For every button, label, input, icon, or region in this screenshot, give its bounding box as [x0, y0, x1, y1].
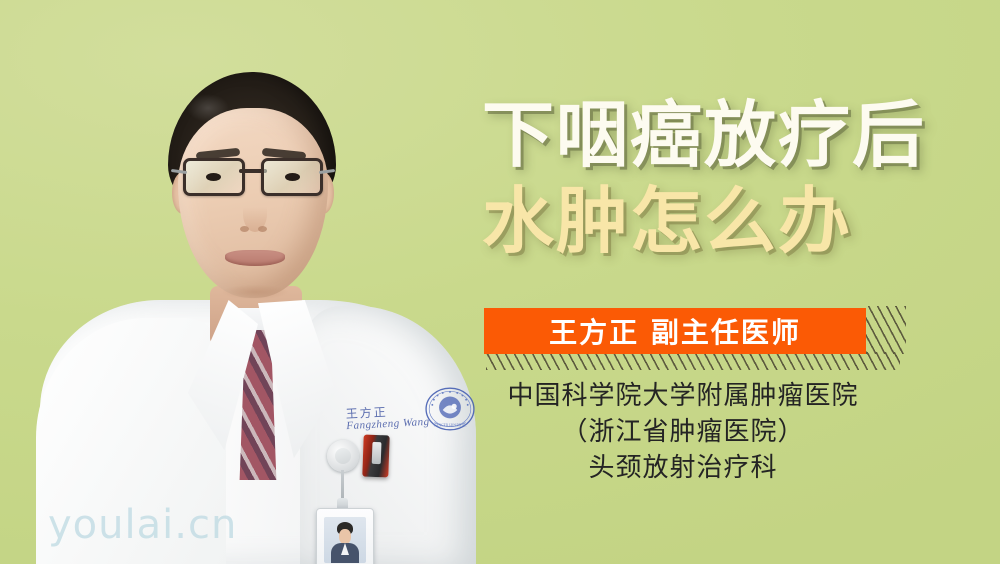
hatch-decoration-bottom	[486, 352, 900, 370]
badge-reel-cord	[341, 470, 344, 500]
coat-embroidery: 王方正 Fangzheng Wang	[345, 404, 429, 432]
hospital-emblem-icon: CANCER HOSPITAL	[424, 383, 476, 435]
id-badge-photo-face	[339, 529, 351, 544]
nostril-right	[258, 226, 267, 232]
affiliation-line-2: （浙江省肿瘤医院）	[484, 414, 882, 450]
affiliation-line-3: 头颈放射治疗科	[484, 450, 882, 486]
doctor-portrait-photo: 王方正 Fangzheng Wang CANCER HOSPITAL	[0, 0, 500, 564]
eyeglass-lens-right	[261, 158, 323, 196]
chin-shadow	[210, 282, 300, 302]
eye-left	[206, 173, 221, 181]
hatch-decoration-right	[866, 306, 906, 354]
mouth	[225, 250, 285, 266]
affiliation-block: 中国科学院大学附属肿瘤医院 （浙江省肿瘤医院） 头颈放射治疗科	[484, 378, 882, 486]
title-line-2: 水肿怎么办	[482, 178, 852, 264]
nostril-left	[240, 226, 249, 232]
radiation-dosimeter-device	[362, 435, 389, 478]
video-thumbnail-poster: 王方正 Fangzheng Wang CANCER HOSPITAL	[0, 0, 1000, 564]
id-badge-photo	[324, 517, 366, 563]
eyeglass-lens-left	[183, 158, 245, 196]
watermark: youlai.cn	[48, 502, 237, 548]
eye-right	[285, 173, 300, 181]
badge-reel-icon	[327, 440, 359, 472]
svg-text:CANCER HOSPITAL: CANCER HOSPITAL	[434, 424, 467, 428]
eyeglasses-icon	[183, 158, 323, 194]
affiliation-line-1: 中国科学院大学附属肿瘤医院	[484, 378, 882, 414]
doctor-name-and-title: 王方正 副主任医师	[549, 311, 801, 351]
doctor-name-badge: 王方正 副主任医师	[484, 308, 866, 354]
title-line-1: 下咽癌放疗后	[482, 92, 926, 178]
id-badge-card: 工作证	[316, 508, 374, 564]
